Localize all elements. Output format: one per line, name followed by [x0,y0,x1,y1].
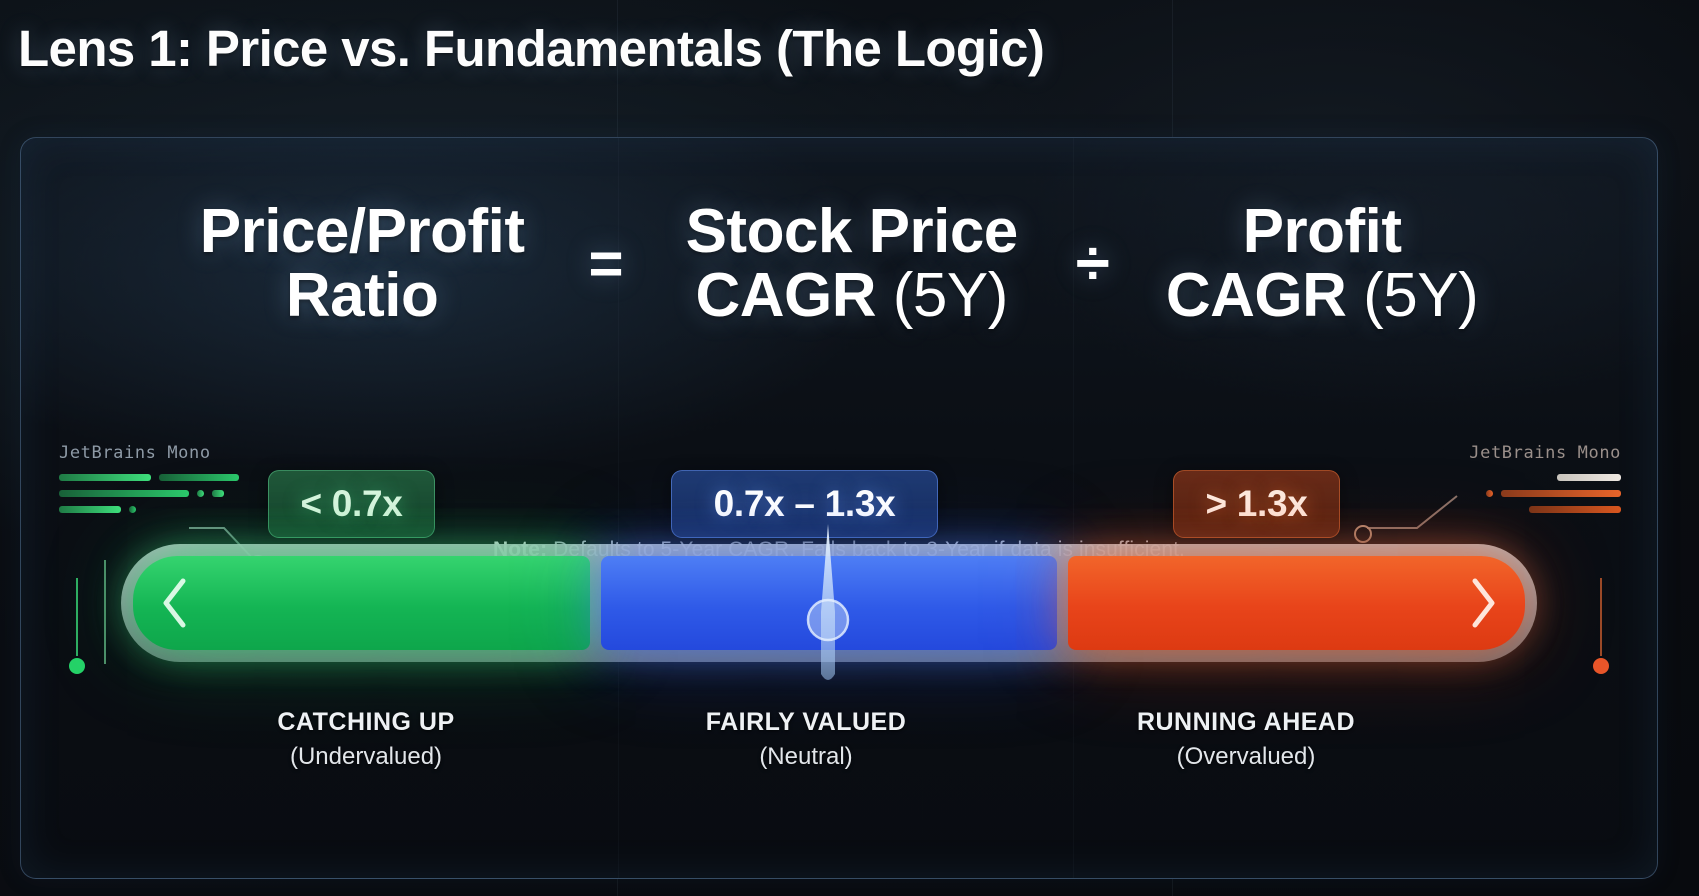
slide-root: { "slide": { "title": "Lens 1: Price vs.… [0,0,1699,896]
formula-row: Price/Profit Ratio = Stock Price CAGR (5… [21,200,1657,328]
formula-ratio-line2: Ratio [200,264,525,328]
formula-term-profit: Profit CAGR (5Y) [1166,200,1478,328]
chevron-left-icon [159,575,193,631]
watermark-left: JetBrains Mono [59,443,211,463]
formula-stock-line1: Stock Price [686,200,1018,264]
formula-profit-line2: CAGR (5Y) [1166,264,1478,328]
slider-indicator-needle[interactable] [806,524,850,686]
label-overvalued-subtitle: (Overvalued) [1061,743,1431,771]
label-neutral: FAIRLY VALUED (Neutral) [641,708,971,771]
formula-profit-period: (5Y) [1363,261,1478,330]
label-undervalued: CATCHING UP (Undervalued) [181,708,551,771]
label-overvalued: RUNNING AHEAD (Overvalued) [1061,708,1431,771]
formula-term-ratio: Price/Profit Ratio [200,200,525,328]
chevron-right-icon [1465,575,1499,631]
logic-card: Price/Profit Ratio = Stock Price CAGR (5… [20,137,1658,879]
label-neutral-title: FAIRLY VALUED [641,708,971,737]
formula-ratio-line1: Price/Profit [200,200,525,264]
watermark-right: JetBrains Mono [1469,443,1621,463]
formula-term-stock-price: Stock Price CAGR (5Y) [686,200,1018,328]
label-overvalued-title: RUNNING AHEAD [1061,708,1431,737]
label-neutral-subtitle: (Neutral) [641,743,971,771]
page-title: Lens 1: Price vs. Fundamentals (The Logi… [18,19,1044,78]
badge-overvalued[interactable]: > 1.3x [1173,470,1340,538]
divide-icon: ÷ [1076,233,1110,295]
label-undervalued-subtitle: (Undervalued) [181,743,551,771]
slider-segment-undervalued[interactable] [133,556,590,650]
badge-neutral[interactable]: 0.7x – 1.3x [671,470,938,538]
formula-stock-period: (5Y) [893,261,1008,330]
formula-stock-cagr: CAGR [695,261,876,330]
formula-profit-cagr: CAGR [1166,261,1347,330]
formula-stock-line2: CAGR (5Y) [686,264,1018,328]
valuation-slider[interactable] [21,536,1657,686]
slider-segment-overvalued[interactable] [1068,556,1525,650]
badge-undervalued[interactable]: < 0.7x [268,470,435,538]
formula-profit-line1: Profit [1166,200,1478,264]
equals-icon: = [589,234,624,294]
label-undervalued-title: CATCHING UP [181,708,551,737]
